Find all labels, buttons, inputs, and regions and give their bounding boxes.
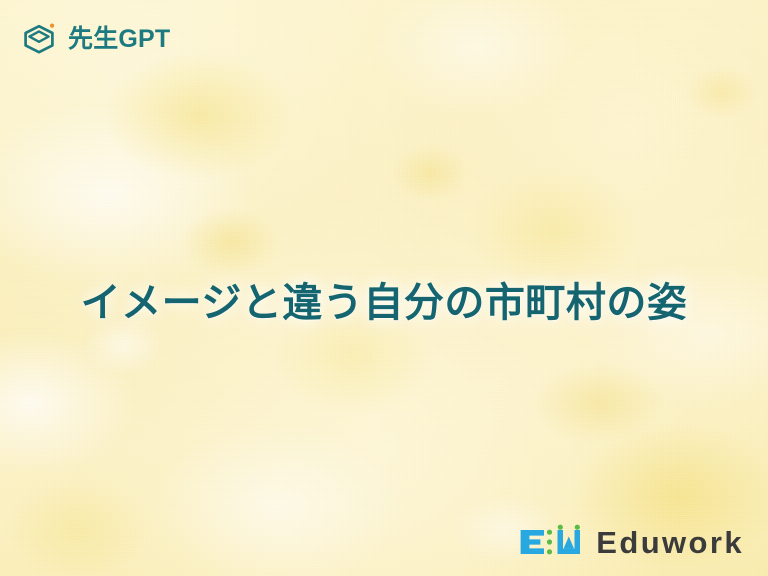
brand-name-label: 先生GPT — [68, 27, 170, 52]
slide-title: イメージと違う自分の市町村の姿 — [81, 279, 688, 329]
brand-logo-sensei-gpt: 先生GPT — [19, 19, 170, 59]
registered-dot-icon — [50, 24, 54, 28]
footer-logo-eduwork: Eduwork — [518, 522, 744, 562]
eduwork-ew-mark-icon — [518, 522, 584, 562]
title-container: イメージと違う自分の市町村の姿 — [0, 252, 768, 355]
graduation-cap-hexagon-icon — [19, 19, 59, 59]
presentation-slide: 先生GPT イメージと違う自分の市町村の姿 — [0, 0, 768, 576]
footer-brand-name-label: Eduwork — [596, 527, 744, 558]
